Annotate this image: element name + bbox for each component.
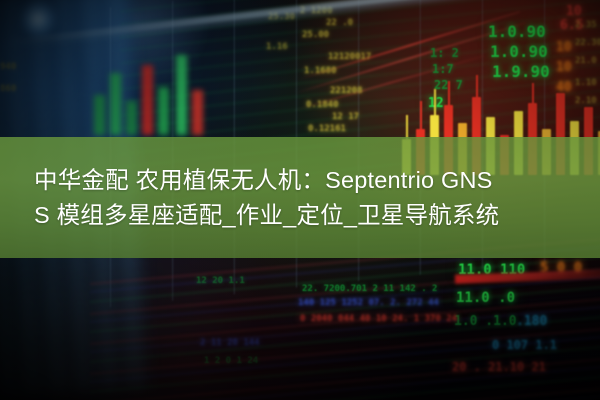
caption-line-2: S 模组多星座适配_作业_定位_卫星导航系统 (34, 198, 566, 233)
caption-band: 中华金配 农用植保无人机：Septentrio GNS S 模组多星座适配_作业… (0, 137, 600, 258)
screenshot-canvas: 1.0.90 1.0.90 1.9.90 1: 2 1:7 22 7 12 2 … (0, 0, 600, 400)
caption-line-1: 中华金配 农用植保无人机：Septentrio GNS (34, 163, 566, 198)
